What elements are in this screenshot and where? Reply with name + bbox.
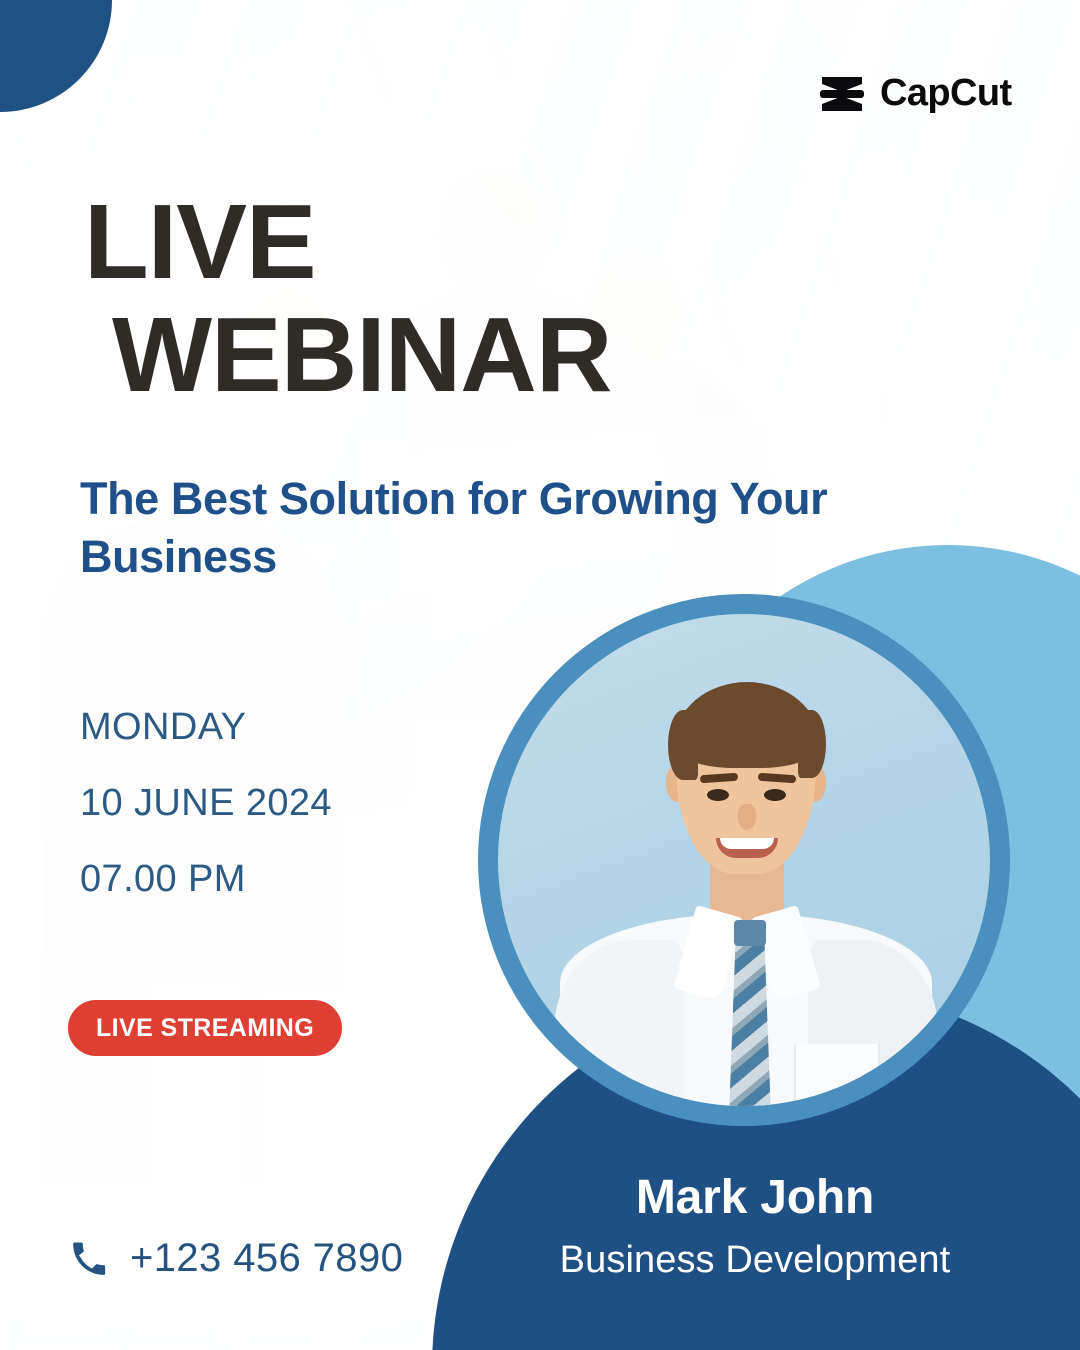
speaker-name: Mark John: [450, 1170, 1060, 1225]
page-subtitle: The Best Solution for Growing Your Busin…: [80, 470, 850, 585]
title-line-1: LIVE: [84, 183, 316, 301]
webinar-poster: CapCut LIVE WEBINAR The Best Solution fo…: [0, 0, 1080, 1350]
speaker-portrait-ring: [478, 594, 1010, 1126]
phone-icon: [70, 1240, 108, 1278]
speaker-portrait: [498, 614, 990, 1106]
title-line-2: WEBINAR: [112, 299, 704, 412]
schedule-day: MONDAY: [80, 706, 500, 749]
schedule-block: MONDAY 10 JUNE 2024 07.00 PM: [80, 706, 500, 934]
capcut-wordmark: CapCut: [880, 72, 1012, 115]
speaker-role: Business Development: [450, 1239, 1060, 1282]
schedule-time: 07.00 PM: [80, 858, 500, 901]
phone-number: +123 456 7890: [130, 1236, 403, 1281]
live-streaming-badge[interactable]: LIVE STREAMING: [68, 1000, 342, 1056]
speaker-caption: Mark John Business Development: [450, 1170, 1060, 1282]
schedule-date: 10 JUNE 2024: [80, 782, 500, 825]
page-title: LIVE WEBINAR: [84, 186, 704, 413]
capcut-logo: CapCut: [818, 72, 1012, 115]
live-streaming-badge-label: LIVE STREAMING: [96, 1014, 314, 1043]
contact-phone[interactable]: +123 456 7890: [70, 1236, 403, 1281]
capcut-mark-icon: [818, 73, 866, 115]
